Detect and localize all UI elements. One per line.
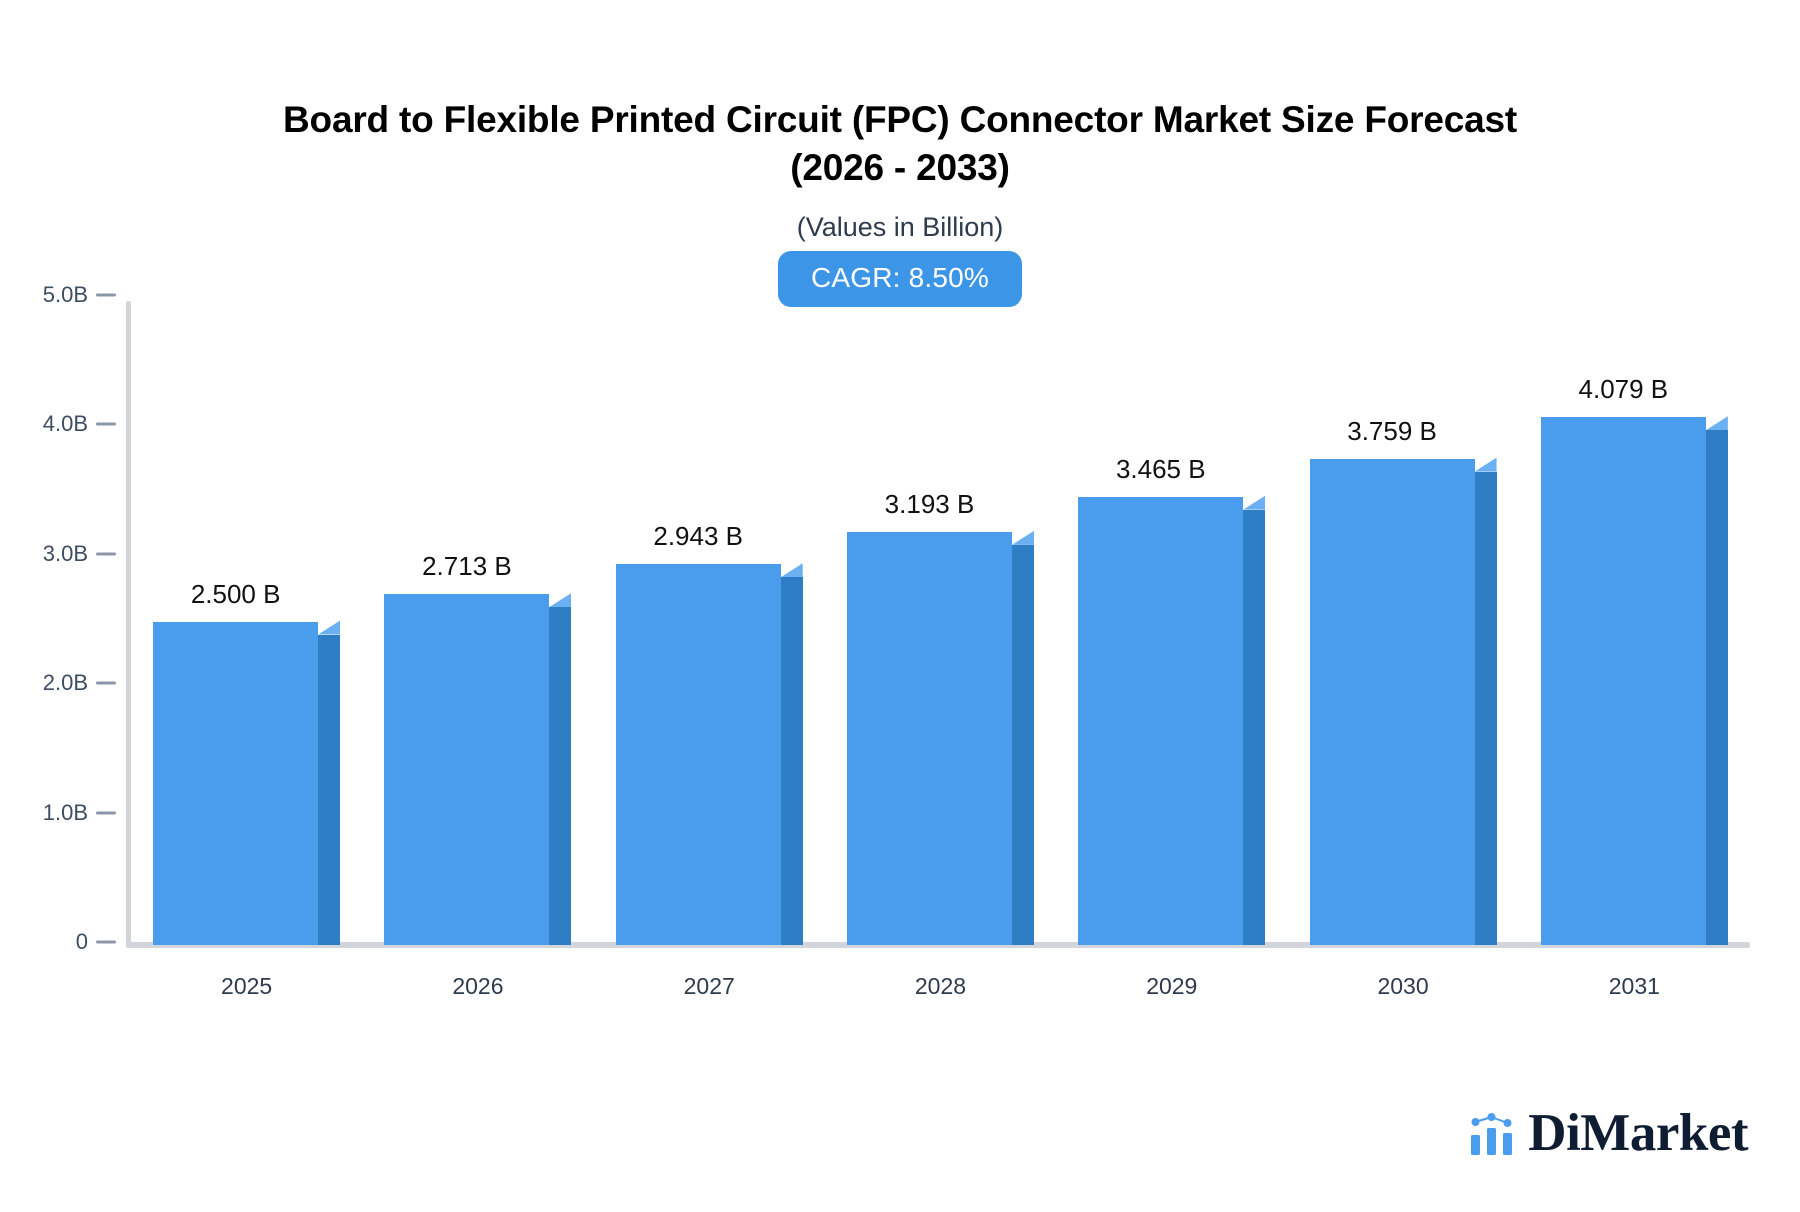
bar-side-face [1706, 430, 1728, 945]
y-axis-tick-mark [96, 294, 116, 297]
x-axis-tick-label: 2025 [131, 973, 362, 1000]
bar-side-face [1475, 472, 1497, 945]
bar-top-face [549, 593, 571, 607]
x-axis: 2025202620272028202920302031 [131, 973, 1750, 1013]
bar-chart-logo-icon [1469, 1111, 1515, 1157]
chart-header: Board to Flexible Printed Circuit (FPC) … [0, 96, 1800, 307]
bar[interactable] [1541, 417, 1728, 945]
bar-front-face [616, 564, 781, 945]
x-axis-tick-label: 2029 [1056, 973, 1287, 1000]
y-axis-tick-label: 1.0B [43, 800, 88, 826]
bar-front-face [384, 594, 549, 945]
plot-area: 01.0B2.0B3.0B4.0B5.0B 2.500 B2.713 B2.94… [0, 295, 1800, 955]
bar-series: 2.500 B2.713 B2.943 B3.193 B3.465 B3.759… [131, 295, 1750, 945]
logo-wordmark: DiMarket [1528, 1107, 1748, 1160]
y-axis-tick-mark [96, 811, 116, 814]
bar-front-face [1078, 497, 1243, 945]
dimarket-logo: DiMarket [1469, 1107, 1748, 1160]
y-axis-tick-mark [96, 941, 116, 944]
bar-top-face [1706, 416, 1728, 430]
bar-value-label: 2.943 B [616, 521, 781, 552]
y-axis-tick-mark [96, 423, 116, 426]
bar-column[interactable]: 3.465 B [1078, 295, 1265, 945]
bar-top-face [1012, 531, 1034, 545]
chart-subtitle: (Values in Billion) [0, 212, 1800, 243]
y-axis: 01.0B2.0B3.0B4.0B5.0B [0, 295, 88, 950]
x-axis-tick-label: 2028 [825, 973, 1056, 1000]
bar-column[interactable]: 2.713 B [384, 295, 571, 945]
bar-front-face [153, 622, 318, 946]
bar-side-face [549, 607, 571, 945]
bar-side-face [318, 635, 340, 946]
bar-value-label: 2.500 B [153, 579, 318, 610]
y-axis-tick-mark [96, 682, 116, 685]
x-axis-tick-label: 2030 [1287, 973, 1518, 1000]
bar-value-label: 3.193 B [847, 489, 1012, 520]
bar-value-label: 3.759 B [1310, 416, 1475, 447]
bar-top-face [1475, 458, 1497, 472]
y-axis-tick-label: 3.0B [43, 541, 88, 567]
bar-top-face [781, 563, 803, 577]
bar-top-face [1243, 496, 1265, 510]
bar-column[interactable]: 2.500 B [153, 295, 340, 945]
y-axis-tick-label: 4.0B [43, 411, 88, 437]
bar[interactable] [384, 594, 571, 945]
bar-front-face [847, 532, 1012, 945]
y-axis-tick-label: 0 [76, 929, 88, 955]
bar-value-label: 4.079 B [1541, 374, 1706, 405]
bar-front-face [1541, 417, 1706, 945]
y-axis-tick-label: 2.0B [43, 670, 88, 696]
bar-column[interactable]: 3.759 B [1310, 295, 1497, 945]
x-axis-tick-label: 2031 [1519, 973, 1750, 1000]
x-axis-tick-label: 2026 [362, 973, 593, 1000]
bar[interactable] [847, 532, 1034, 945]
bar-value-label: 3.465 B [1078, 454, 1243, 485]
bar[interactable] [153, 622, 340, 946]
y-axis-tick-mark [96, 552, 116, 555]
chart-canvas: Board to Flexible Printed Circuit (FPC) … [0, 0, 1800, 1212]
bar-column[interactable]: 4.079 B [1541, 295, 1728, 945]
bar-column[interactable]: 3.193 B [847, 295, 1034, 945]
x-axis-tick-label: 2027 [594, 973, 825, 1000]
bar-top-face [318, 621, 340, 635]
bar-column[interactable]: 2.943 B [616, 295, 803, 945]
bar-side-face [781, 577, 803, 945]
bar-side-face [1243, 510, 1265, 945]
bar-front-face [1310, 459, 1475, 945]
bar[interactable] [616, 564, 803, 945]
bar-side-face [1012, 545, 1034, 945]
bar-value-label: 2.713 B [384, 551, 549, 582]
y-axis-tick-label: 5.0B [43, 282, 88, 308]
chart-title: Board to Flexible Printed Circuit (FPC) … [240, 96, 1560, 192]
bar[interactable] [1078, 497, 1265, 945]
bar[interactable] [1310, 459, 1497, 945]
